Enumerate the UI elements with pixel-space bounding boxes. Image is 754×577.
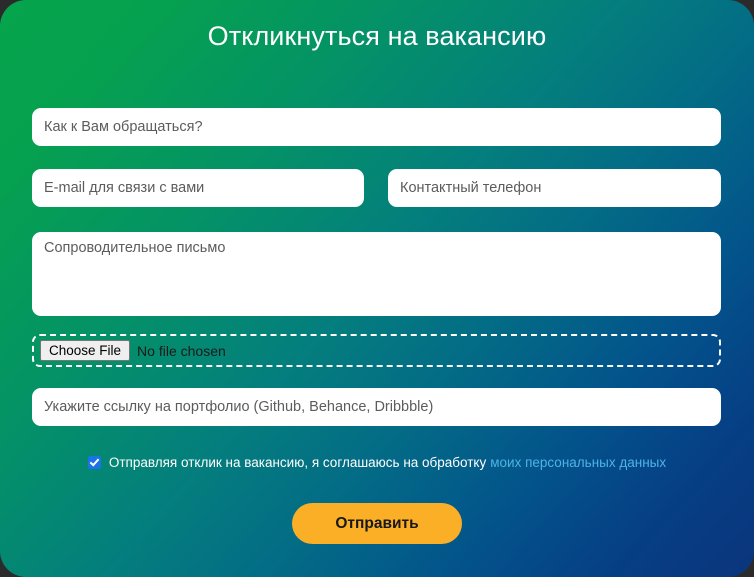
consent-checkbox[interactable]: [88, 456, 101, 469]
submit-button[interactable]: Отправить: [292, 503, 462, 544]
consent-label: Отправляя отклик на вакансию, я соглашаю…: [109, 455, 486, 470]
choose-file-button[interactable]: Choose File: [40, 340, 130, 361]
file-upload-dropzone[interactable]: Choose File No file chosen: [32, 334, 721, 367]
name-input[interactable]: [32, 108, 721, 146]
page-title: Откликнуться на вакансию: [0, 21, 754, 52]
consent-row: Отправляя отклик на вакансию, я соглашаю…: [0, 455, 754, 470]
application-form-card: Откликнуться на вакансию Choose File No …: [0, 0, 754, 577]
phone-input[interactable]: [388, 169, 721, 207]
portfolio-link-input[interactable]: [32, 388, 721, 426]
privacy-policy-link[interactable]: моих персональных данных: [490, 455, 666, 470]
file-status-label: No file chosen: [137, 343, 226, 359]
email-input[interactable]: [32, 169, 364, 207]
cover-letter-textarea[interactable]: [32, 232, 721, 316]
